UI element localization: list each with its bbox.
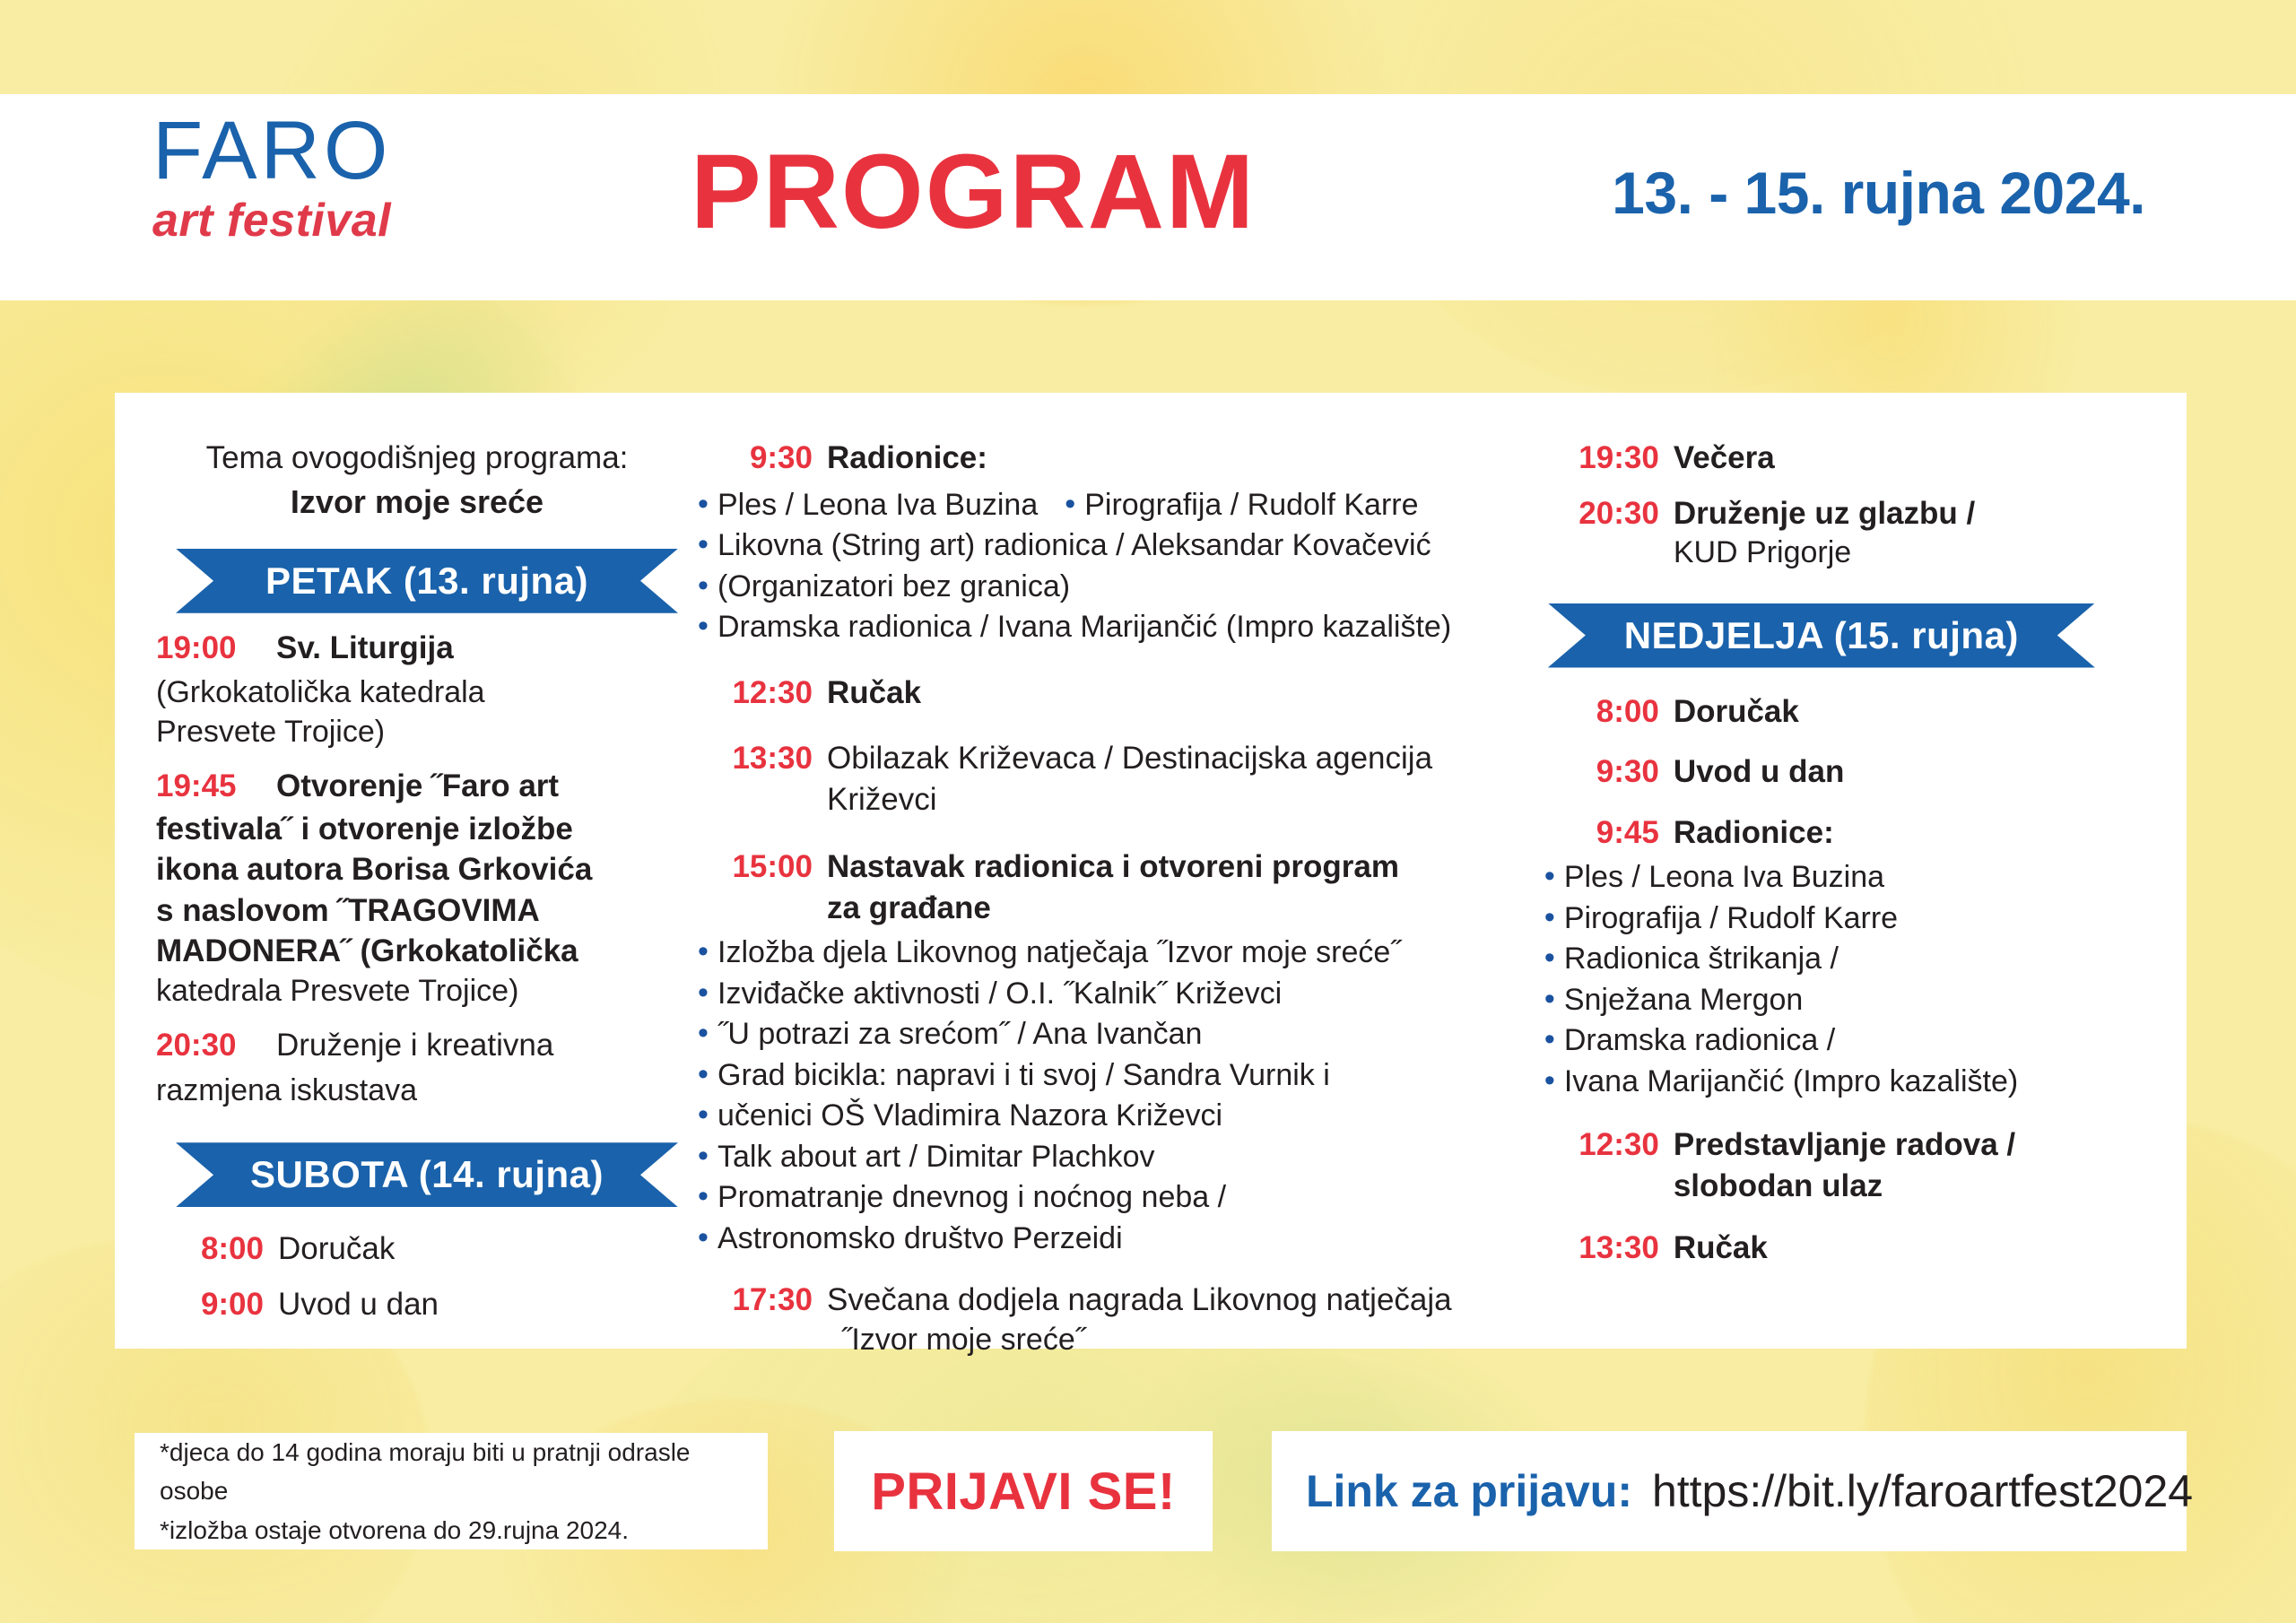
event-title-line: slobodan ulaz bbox=[1674, 1166, 2015, 1207]
event-note-line: razmjena iskustava bbox=[156, 1072, 678, 1111]
event-time: 13:30 bbox=[698, 738, 813, 820]
event-time: 9:30 bbox=[698, 438, 813, 479]
event-time: 8:00 bbox=[1544, 691, 1659, 733]
list-item: Talk about art / Dimitar Plachkov bbox=[698, 1138, 1521, 1177]
event-title: Doručak bbox=[278, 1228, 395, 1270]
list-item: Pirografija / Rudolf Karre bbox=[1065, 486, 1418, 525]
event-time: 9:45 bbox=[1544, 812, 1659, 854]
event-time: 13:30 bbox=[1544, 1228, 1659, 1269]
event-title: Obilazak Križevaca / Destinacijska agenc… bbox=[827, 738, 1521, 820]
event-time: 20:30 bbox=[156, 1025, 262, 1066]
event-row: 19:30 Večera bbox=[1544, 438, 2145, 479]
event-row: 19:45 Otvorenje ˝Faro art bbox=[156, 766, 678, 807]
list-item: Izviđačke aktivnosti / O.I. ˝Kalnik˝ Kri… bbox=[698, 975, 1521, 1014]
open-program-list: Izložba djela Likovnog natječaja ˝Izvor … bbox=[698, 933, 1521, 1258]
event-time: 12:30 bbox=[1544, 1124, 1659, 1206]
column-right: 19:30 Večera 20:30 Druženje uz glazbu / … bbox=[1544, 421, 2145, 1327]
day-ribbon-friday: PETAK (13. rujna) bbox=[176, 549, 678, 613]
list-item: ˝U potrazi za srećom˝ / Ana Ivančan bbox=[698, 1015, 1521, 1055]
event-row: 9:45 Radionice: bbox=[1544, 812, 2145, 854]
day-ribbon-saturday-label: SUBOTA (14. rujna) bbox=[250, 1153, 604, 1196]
event-time: 15:00 bbox=[698, 846, 813, 928]
event-note-line: KUD Prigorje bbox=[1674, 534, 1975, 573]
event-title: Nastavak radionica i otvoreni program bbox=[827, 846, 1399, 888]
event-row: 12:30 Predstavljanje radova / slobodan u… bbox=[1544, 1124, 2145, 1206]
list-item: Dramska radionica / Ivana Marijančić (Im… bbox=[698, 608, 1521, 647]
event-row: 9:30 Radionice: bbox=[698, 438, 1521, 479]
event-title: Druženje i kreativna bbox=[276, 1025, 553, 1066]
logo-sub-text: art festival bbox=[152, 197, 391, 244]
event-time: 8:00 bbox=[156, 1228, 264, 1270]
list-item: Ples / Leona Iva Buzina bbox=[1544, 858, 2145, 898]
event-row: 8:00 Doručak bbox=[1544, 691, 2145, 733]
event-title: Ručak bbox=[1674, 1228, 1768, 1269]
theme-name: Izvor moje sreće bbox=[156, 482, 678, 522]
event-row: 19:00 Sv. Liturgija bbox=[156, 628, 678, 669]
event-title: Druženje uz glazbu / bbox=[1674, 493, 1975, 534]
day-ribbon-saturday: SUBOTA (14. rujna) bbox=[176, 1142, 678, 1207]
logo-main-text: FARO bbox=[152, 109, 391, 192]
list-item-continuation: Ivana Marijančić (Impro kazalište) bbox=[1544, 1063, 2145, 1102]
event-row: 12:30 Ručak bbox=[698, 673, 1521, 714]
event-title: Predstavljanje radova / bbox=[1674, 1124, 2015, 1166]
event-title-line: za građane bbox=[827, 888, 1399, 929]
event-title-line: ikona autora Borisa Grkovića bbox=[156, 849, 678, 890]
list-item-continuation: Astronomsko društvo Perzeidi bbox=[698, 1219, 1521, 1259]
program-card: Tema ovogodišnjeg programa: Izvor moje s… bbox=[115, 393, 2187, 1349]
list-item-continuation: (Organizatori bez granica) bbox=[698, 568, 1521, 607]
day-ribbon-sunday: NEDJELJA (15. rujna) bbox=[1548, 603, 2095, 668]
event-time: 20:30 bbox=[1544, 493, 1659, 573]
event-time: 19:45 bbox=[156, 766, 262, 807]
event-title-line: festivala˝ i otvorenje izložbe bbox=[156, 809, 678, 850]
theme-intro-label: Tema ovogodišnjeg programa: bbox=[156, 439, 678, 478]
event-title: Doručak bbox=[1674, 691, 1799, 733]
event-time: 12:30 bbox=[698, 673, 813, 714]
list-item: Ples / Leona Iva Buzina bbox=[698, 486, 1065, 525]
signup-link-box: Link za prijavu: https://bit.ly/faroartf… bbox=[1272, 1431, 2187, 1551]
event-title: Večera bbox=[1674, 438, 1775, 479]
event-title: Uvod u dan bbox=[1674, 751, 1845, 793]
list-item: Radionica štrikanja / bbox=[1544, 940, 2145, 979]
event-note: razmjena iskustava bbox=[156, 1072, 678, 1111]
day-ribbon-friday-label: PETAK (13. rujna) bbox=[265, 560, 588, 603]
event-note-line: ˝Izvor moje sreće˝ bbox=[827, 1321, 1452, 1360]
event-time: 9:00 bbox=[156, 1284, 264, 1325]
event-title: Ručak bbox=[827, 673, 921, 714]
event-title-line: s naslovom ˝TRAGOVIMA bbox=[156, 890, 678, 932]
event-row: 20:30 Druženje uz glazbu / KUD Prigorje bbox=[1544, 493, 2145, 573]
event-row: 20:30 Druženje i kreativna bbox=[156, 1025, 678, 1066]
event-note-line: (Grkokatolička katedrala bbox=[156, 673, 678, 713]
column-middle: 9:30 Radionice: Ples / Leona Iva BuzinaP… bbox=[698, 421, 1544, 1327]
list-item-continuation: Snježana Mergon bbox=[1544, 981, 2145, 1020]
event-title: Otvorenje ˝Faro art bbox=[276, 766, 559, 807]
poster-root: FARO art festival PROGRAM 13. - 15. rujn… bbox=[0, 0, 2296, 1623]
list-item: Promatranje dnevnog i noćnog neba / bbox=[698, 1178, 1521, 1218]
signup-cta-label: PRIJAVI SE! bbox=[871, 1462, 1176, 1522]
event-row: 9:00 Uvod u dan bbox=[156, 1284, 678, 1325]
event-title: Svečana dodjela nagrada Likovnog natječa… bbox=[827, 1280, 1452, 1321]
sunday-workshop-list: Ples / Leona Iva Buzina Pirografija / Ru… bbox=[1544, 858, 2145, 1101]
event-row: 15:00 Nastavak radionica i otvoreni prog… bbox=[698, 846, 1521, 928]
event-time: 19:00 bbox=[156, 628, 262, 669]
event-row: 8:00 Doručak bbox=[156, 1228, 678, 1270]
page-title: PROGRAM bbox=[691, 139, 1256, 245]
column-left: Tema ovogodišnjeg programa: Izvor moje s… bbox=[156, 421, 698, 1327]
event-row: 13:30 Ručak bbox=[1544, 1228, 2145, 1269]
signup-cta-box[interactable]: PRIJAVI SE! bbox=[834, 1431, 1213, 1551]
event-title: Radionice: bbox=[1674, 812, 1834, 854]
event-row: 9:30 Uvod u dan bbox=[1544, 751, 2145, 793]
list-item-continuation: učenici OŠ Vladimira Nazora Križevci bbox=[698, 1097, 1521, 1136]
event-note-line: katedrala Presvete Trojice) bbox=[156, 972, 678, 1011]
signup-link-url[interactable]: https://bit.ly/faroartfest2024 bbox=[1652, 1465, 2193, 1517]
event-title-line: MADONERA˝ (Grkokatolička bbox=[156, 931, 678, 972]
event-title: Radionice: bbox=[827, 438, 987, 479]
list-item: Dramska radionica / bbox=[1544, 1021, 2145, 1061]
event-title: Sv. Liturgija bbox=[276, 628, 454, 669]
list-item: Likovna (String art) radionica / Aleksan… bbox=[698, 526, 1521, 566]
event-title: Uvod u dan bbox=[278, 1284, 439, 1325]
footnotes-box: *djeca do 14 godina moraju biti u pratnj… bbox=[135, 1433, 768, 1549]
day-ribbon-sunday-label: NEDJELJA (15. rujna) bbox=[1624, 614, 2019, 657]
list-item: Izložba djela Likovnog natječaja ˝Izvor … bbox=[698, 933, 1521, 973]
faro-logo: FARO art festival bbox=[152, 109, 391, 244]
footnote-line: *izložba ostaje otvorena do 29.rujna 202… bbox=[160, 1511, 743, 1549]
event-time: 19:30 bbox=[1544, 438, 1659, 479]
list-item: Pirografija / Rudolf Karre bbox=[1544, 899, 2145, 939]
list-item: Grad bicikla: napravi i ti svoj / Sandra… bbox=[698, 1056, 1521, 1096]
festival-dates: 13. - 15. rujna 2024. bbox=[1612, 163, 2145, 222]
event-row: 13:30 Obilazak Križevaca / Destinacijska… bbox=[698, 738, 1521, 820]
event-time: 17:30 bbox=[698, 1280, 813, 1359]
event-time: 9:30 bbox=[1544, 751, 1659, 793]
signup-link-label: Link za prijavu: bbox=[1306, 1465, 1632, 1517]
footnote-line: *djeca do 14 godina moraju biti u pratnj… bbox=[160, 1433, 743, 1511]
workshop-list: Ples / Leona Iva BuzinaPirografija / Rud… bbox=[698, 484, 1521, 647]
event-row: 17:30 Svečana dodjela nagrada Likovnog n… bbox=[698, 1280, 1521, 1359]
event-note-line: Presvete Trojice) bbox=[156, 713, 678, 752]
event-note: (Grkokatolička katedrala Presvete Trojic… bbox=[156, 673, 678, 751]
